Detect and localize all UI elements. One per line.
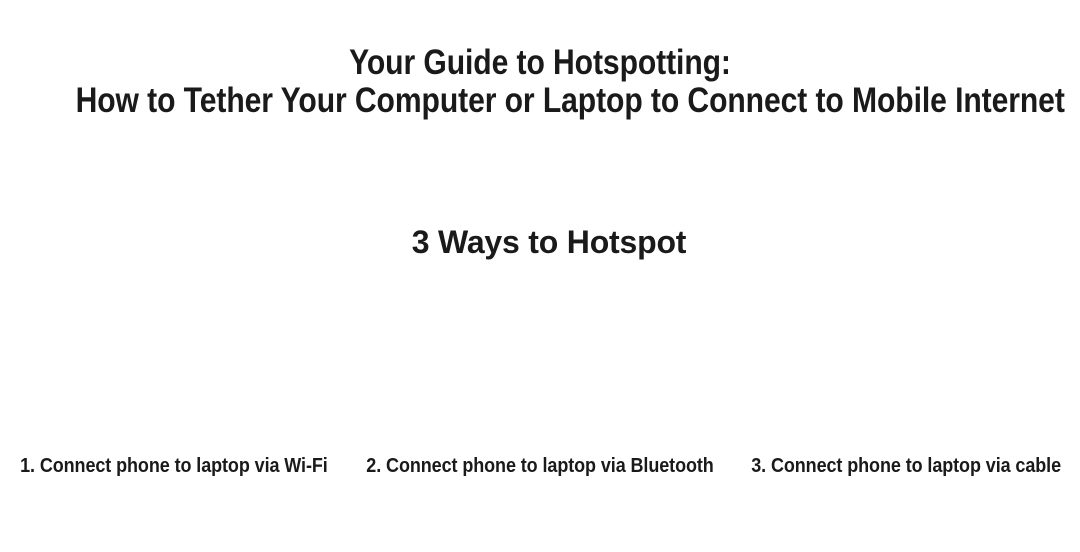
method-illustration-wifi	[0, 280, 347, 454]
method-caption-cable: 3. Connect phone to laptop via cable	[752, 454, 1062, 512]
method-illustration-bluetooth	[347, 280, 733, 454]
method-column-cable: 3. Connect phone to laptop via cable	[733, 280, 1080, 512]
title-line-1: Your Guide to Hotspotting:	[76, 44, 1005, 82]
method-column-bluetooth: 2. Connect phone to laptop via Bluetooth	[347, 280, 733, 512]
page-title: Your Guide to Hotspotting: How to Tether…	[0, 44, 1080, 120]
infographic-page: Your Guide to Hotspotting: How to Tether…	[0, 0, 1080, 552]
title-line-2: How to Tether Your Computer or Laptop to…	[76, 82, 1005, 120]
method-column-wifi: 1. Connect phone to laptop via Wi-Fi	[0, 280, 347, 512]
method-caption-bluetooth: 2. Connect phone to laptop via Bluetooth	[366, 454, 713, 512]
method-caption-wifi: 1. Connect phone to laptop via Wi-Fi	[20, 454, 328, 512]
methods-row: 1. Connect phone to laptop via Wi-Fi 2. …	[0, 280, 1080, 512]
method-illustration-cable	[733, 280, 1080, 454]
section-heading: 3 Ways to Hotspot	[0, 222, 1080, 262]
